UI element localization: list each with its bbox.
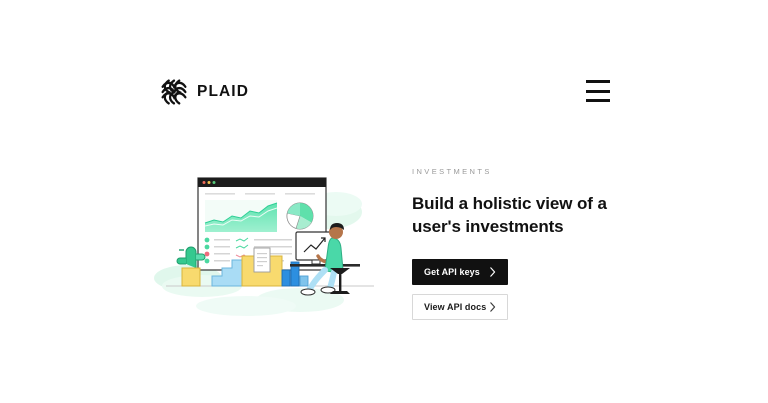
chevron-right-icon <box>489 267 496 277</box>
get-api-keys-button[interactable]: Get API keys <box>412 259 508 285</box>
brand-logo-link[interactable]: PLAID <box>160 78 249 106</box>
investments-dashboard-illustration <box>150 160 390 340</box>
page-title: Build a holistic view of a user's invest… <box>412 192 622 239</box>
chevron-right-icon <box>489 302 496 312</box>
site-header: PLAID <box>0 0 768 140</box>
brand-name-text: PLAID <box>197 84 249 100</box>
get-api-keys-label: Get API keys <box>424 267 480 277</box>
hero-copy: INVESTMENTS Build a holistic view of a u… <box>412 168 712 320</box>
view-api-docs-button[interactable]: View API docs <box>412 294 508 320</box>
desk-top <box>290 264 360 267</box>
menu-bar-bottom <box>586 99 610 102</box>
cta-group: Get API keys View API docs <box>412 259 712 320</box>
hamburger-menu-icon[interactable] <box>586 80 610 102</box>
hero-eyebrow: INVESTMENTS <box>412 168 712 176</box>
area-chart <box>205 200 277 232</box>
plaid-logo-mark-icon <box>160 78 188 106</box>
page-root: PLAID <box>0 0 768 403</box>
menu-bar-top <box>586 80 610 83</box>
menu-bar-middle <box>586 90 610 93</box>
view-api-docs-label: View API docs <box>424 302 486 312</box>
pie-chart <box>287 203 313 229</box>
